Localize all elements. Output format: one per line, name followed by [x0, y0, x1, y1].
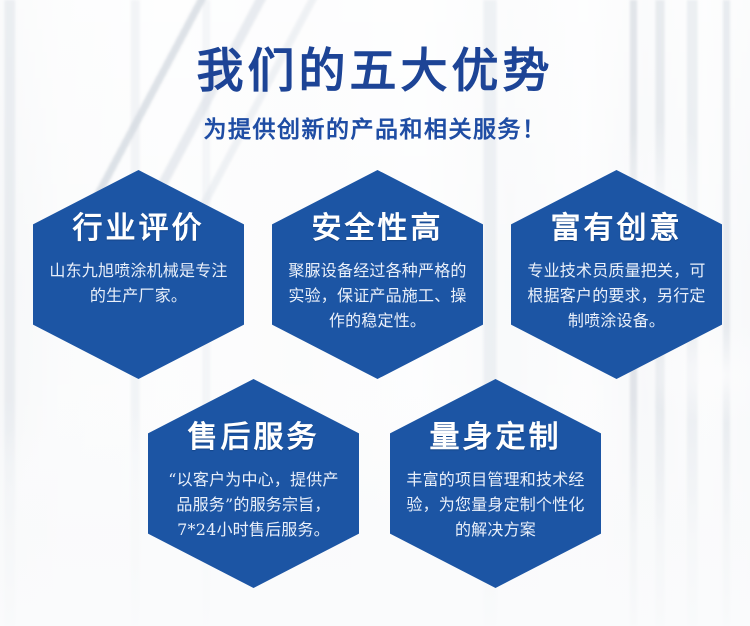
advantage-body: 丰富的项目管理和技术经验，为您量身定制个性化的解决方案: [400, 467, 591, 542]
banner-heading-group: 我们的五大优势 为提供创新的产品和相关服务！: [0, 44, 750, 146]
page-subtitle: 为提供创新的产品和相关服务！: [0, 114, 750, 146]
advantage-title: 量身定制: [430, 421, 562, 455]
promo-banner: 我们的五大优势 为提供创新的产品和相关服务！ 行业评价 山东九旭喷涂机械是专注的…: [0, 0, 750, 626]
advantage-title: 富有创意: [551, 212, 683, 246]
advantage-body: 山东九旭喷涂机械是专注的生产厂家。: [43, 258, 234, 308]
advantage-title: 售后服务: [188, 421, 320, 455]
background-bottom-fade: [0, 396, 750, 626]
advantage-body: “以客户为中心，提供产品服务”的服务宗旨，7*24小时售后服务。: [158, 467, 349, 542]
advantage-body: 专业技术员质量把关，可根据客户的要求，另行定制喷涂设备。: [521, 258, 712, 333]
page-title: 我们的五大优势: [0, 44, 750, 100]
advantage-body: 聚脲设备经过各种严格的实验，保证产品施工、操作的稳定性。: [282, 258, 473, 333]
advantage-title: 行业评价: [73, 212, 205, 246]
advantage-title: 安全性高: [312, 212, 444, 246]
